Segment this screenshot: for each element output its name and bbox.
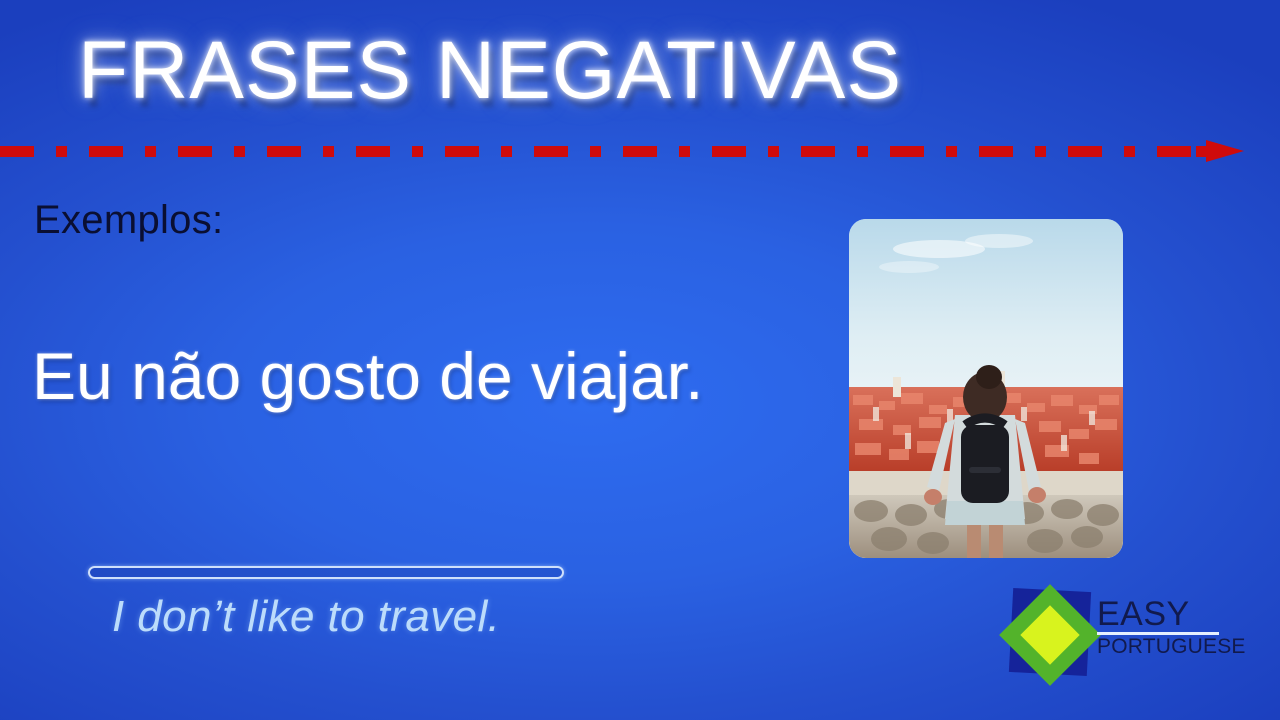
portuguese-sentence: Eu não gosto de viajar. <box>32 338 703 414</box>
presentation-slide: FRASES NEGATIVAS Exemplos: Eu não gosto … <box>0 0 1280 720</box>
arrow-right-icon <box>1206 140 1244 162</box>
examples-label: Exemplos: <box>34 198 223 243</box>
english-translation: I don’t like to travel. <box>112 592 500 642</box>
logo-text-easy: EASY <box>1097 597 1227 631</box>
travel-photo <box>849 219 1123 558</box>
easy-portuguese-logo: EASY PORTUGUESE <box>995 585 1230 685</box>
dash-dot-divider <box>0 142 1280 160</box>
logo-text-portuguese: PORTUGUESE <box>1097 636 1227 658</box>
answer-outline-bar <box>88 566 564 579</box>
slide-title: FRASES NEGATIVAS <box>78 30 902 112</box>
travel-photo-image <box>849 219 1123 558</box>
divider-dash-line <box>0 146 1232 157</box>
logo-mark <box>995 585 1105 685</box>
logo-wordmark: EASY PORTUGUESE <box>1097 597 1227 658</box>
